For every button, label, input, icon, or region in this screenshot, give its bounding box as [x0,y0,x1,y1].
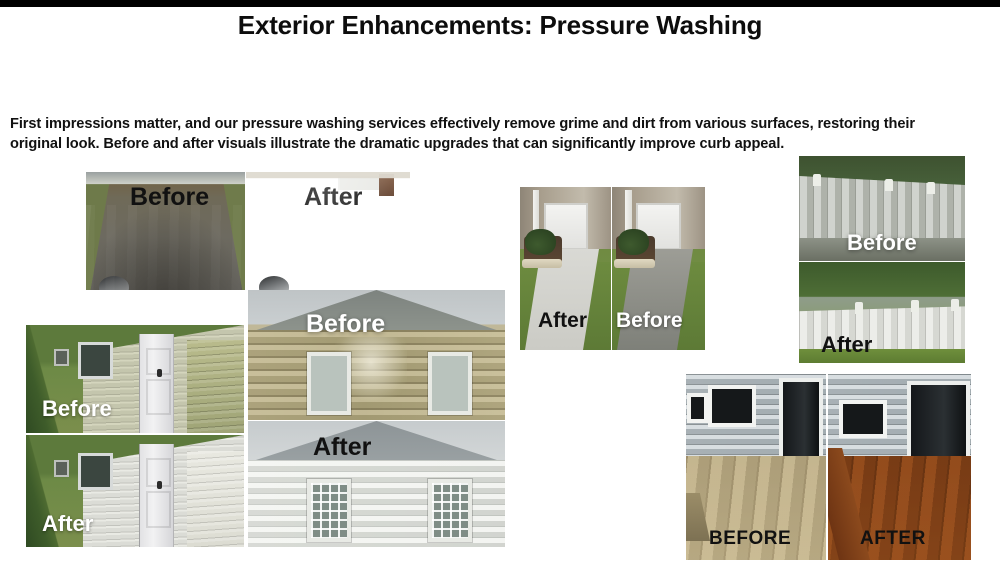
entry-door [139,334,174,433]
fence-post [951,299,959,311]
driveway-after-caption: After [304,185,362,210]
fence-after-photo: After [799,262,965,363]
house-gable-comparison: Before After [248,290,505,547]
shrub [525,229,556,255]
fence-before-photo: Before [799,156,965,261]
slide-canvas: Exterior Enhancements: Pressure Washing … [0,0,1000,565]
fence-post [813,174,821,186]
siding-before-photo: Before [26,325,244,433]
entry-door [139,444,174,547]
stone-edging [522,259,562,269]
door-knob [157,369,162,377]
car-mirror [259,276,289,290]
siding-before-caption: Before [42,398,112,420]
fence-before-caption: Before [847,232,917,254]
gable-after-caption: After [313,435,371,460]
walkway-before-caption: Before [616,310,683,331]
page-title: Exterior Enhancements: Pressure Washing [0,10,1000,41]
vinyl-fence-comparison: Before After [799,156,965,363]
shrub [618,229,650,255]
window [708,385,755,426]
window-small [687,393,708,423]
gable-before-photo: Before [248,290,505,420]
gable-before-caption: Before [306,312,385,337]
window [78,453,112,490]
driveway-before-photo: Before [86,172,245,290]
top-accent-bar [0,0,1000,7]
walkway-after-photo: After [520,187,611,350]
fence-after-caption: After [821,334,872,356]
roof [248,421,505,463]
corner-siding [187,340,244,433]
deck-before-caption: BEFORE [709,529,791,548]
door-knob [157,481,162,489]
garage-door [338,176,379,190]
car-mirror [99,276,129,290]
deck-after-photo: AFTER [828,374,971,560]
fence-post [885,179,893,191]
brick-post [379,174,394,195]
body-paragraph: First impressions matter, and our pressu… [10,114,956,154]
stone-edging [614,259,655,269]
fence-post [911,300,919,312]
walkway-before-photo: Before [612,187,705,350]
fence-post [855,302,863,314]
siding-after-photo: After [26,435,244,547]
window-left [307,479,351,542]
walkway-after-caption: After [538,310,587,331]
garage-walkway-comparison: After Before [520,187,705,350]
fence-post [927,182,935,194]
window-small [54,460,69,477]
window-small [54,349,69,366]
gable-after-photo: After [248,421,505,547]
corner-siding [187,451,244,547]
wood-deck-comparison: BEFORE AFTER [686,374,971,560]
window-left [307,352,351,415]
sliding-door [907,381,969,467]
deck-before-photo: BEFORE [686,374,826,560]
house-siding-comparison: Before After [26,325,244,547]
sliding-door [779,378,823,468]
driveway-after-photo: After [246,172,410,290]
window [839,400,887,438]
driveway-before-caption: Before [130,185,209,210]
window-right [428,352,472,415]
siding-after-caption: After [42,513,93,535]
driveway-comparison: Before After [86,172,410,290]
window-right [428,479,472,542]
window [78,342,112,378]
deck-after-caption: AFTER [860,529,926,548]
